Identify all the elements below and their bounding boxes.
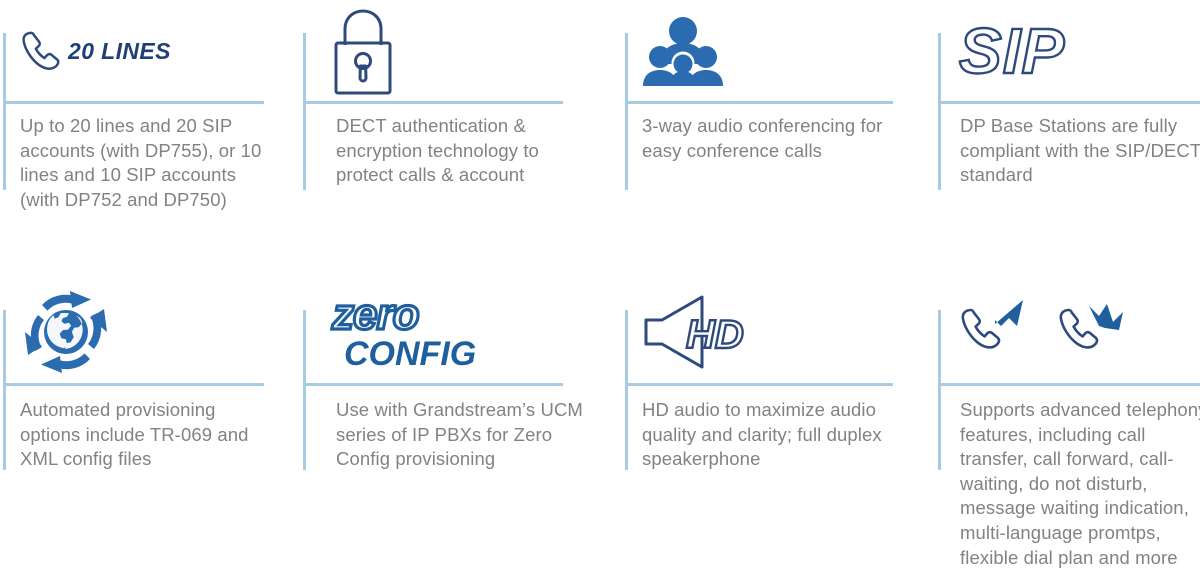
icon-zone: HD	[640, 280, 905, 384]
call-forward-icon	[1055, 296, 1127, 368]
vertical-accent-rule	[303, 33, 306, 190]
twenty-lines-label: 20 LINES	[68, 38, 171, 65]
feature-cell-telephony-features: Supports advanced telephony features, in…	[935, 270, 1200, 559]
hd-speaker-icon: HD	[640, 292, 752, 372]
icon-zone	[957, 280, 1200, 384]
sip-wordmark-text: SIP	[959, 15, 1065, 87]
icon-zone	[640, 0, 905, 103]
three-people-conference-icon	[640, 17, 726, 87]
phone-handset-20-lines-icon	[18, 29, 64, 75]
icon-zone: 20 LINES	[18, 0, 283, 103]
feature-caption: DP Base Stations are fully compliant wit…	[960, 114, 1200, 188]
zero-wordmark-text: zero	[331, 290, 419, 339]
feature-cell-sip-standard: SIP DP Base Stations are fully compliant…	[935, 0, 1200, 270]
globe-sync-arrows-icon	[18, 287, 114, 377]
feature-cell-hd-audio: HD HD audio to maximize audio quality an…	[622, 270, 922, 559]
vertical-accent-rule	[625, 33, 628, 190]
sip-wordmark-icon: SIP	[957, 15, 1085, 89]
feature-caption: Automated provisioning options include T…	[20, 398, 280, 472]
icon-zone: zero CONFIG	[330, 280, 595, 384]
feature-cell-provisioning: Automated provisioning options include T…	[0, 270, 300, 559]
feature-caption: Use with Grandstream’s UCM series of IP …	[336, 398, 586, 472]
feature-caption: Supports advanced telephony features, in…	[960, 398, 1200, 570]
vertical-accent-rule	[3, 33, 6, 190]
icon-zone: SIP	[957, 0, 1200, 103]
icon-zone	[18, 280, 283, 384]
feature-caption: Up to 20 lines and 20 SIP accounts (with…	[20, 114, 280, 212]
vertical-accent-rule	[303, 310, 306, 470]
feature-cell-zero-config: zero CONFIG Use with Grandstream’s UCM s…	[300, 270, 600, 559]
features-grid: 20 LINES Up to 20 lines and 20 SIP accou…	[0, 0, 1200, 559]
vertical-accent-rule	[3, 310, 6, 470]
feature-caption: 3-way audio conferencing for easy confer…	[642, 114, 904, 163]
vertical-accent-rule	[938, 33, 941, 190]
vertical-accent-rule	[625, 310, 628, 470]
hd-wordmark-text: HD	[686, 313, 744, 357]
feature-caption: DECT authentication & encryption technol…	[336, 114, 586, 188]
feature-cell-dect-security: DECT authentication & encryption technol…	[300, 0, 600, 270]
feature-cell-twenty-lines: 20 LINES Up to 20 lines and 20 SIP accou…	[0, 0, 300, 270]
feature-cell-conferencing: 3-way audio conferencing for easy confer…	[622, 0, 922, 270]
icon-zone	[330, 0, 595, 103]
vertical-accent-rule	[938, 310, 941, 470]
padlock-icon	[330, 7, 396, 97]
feature-caption: HD audio to maximize audio quality and c…	[642, 398, 904, 472]
zero-config-wordmark-icon: zero CONFIG	[330, 289, 460, 375]
call-transfer-icon	[957, 296, 1029, 368]
config-wordmark-text: CONFIG	[344, 335, 476, 373]
